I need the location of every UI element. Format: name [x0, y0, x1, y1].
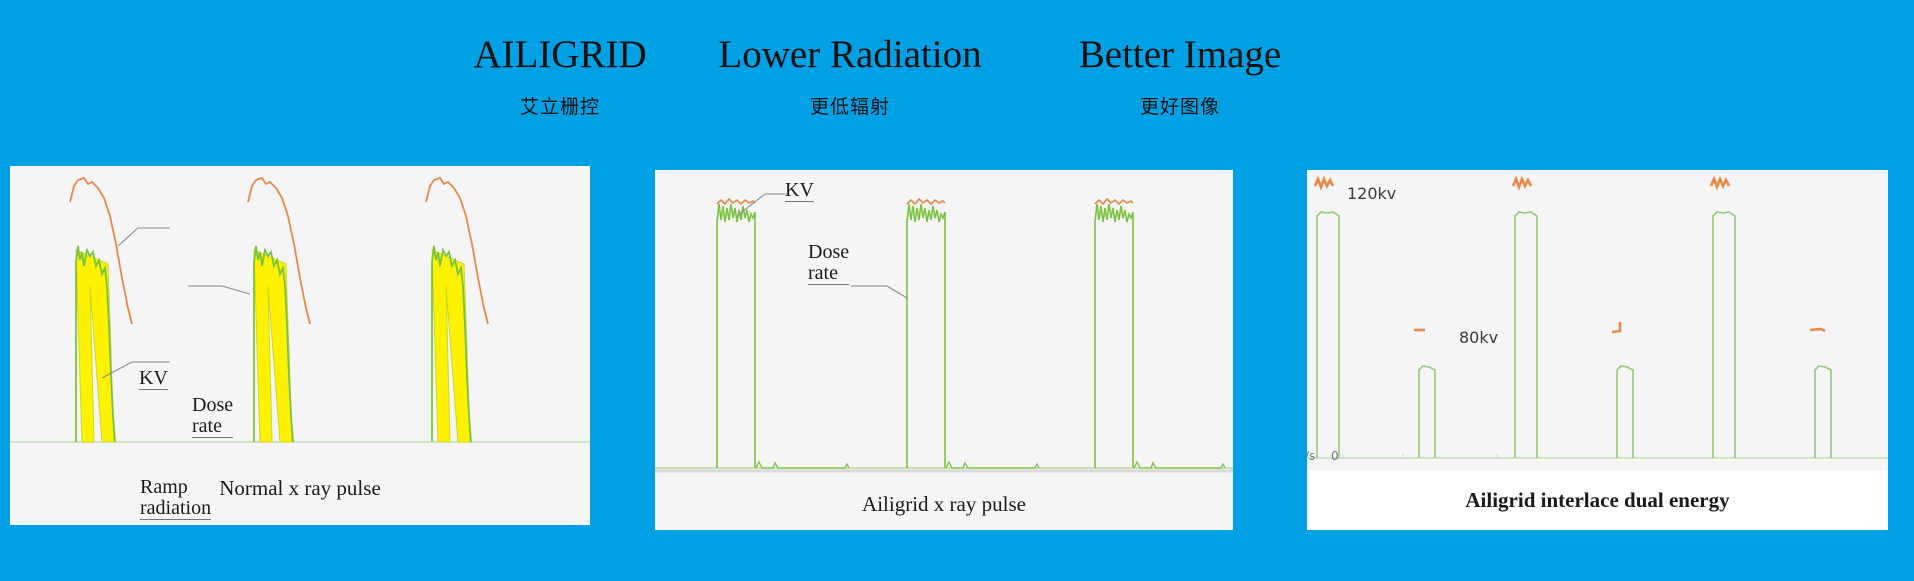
marker-80kv-3 — [1810, 329, 1825, 331]
panel-ailigrid-xray-pulse: KV Dose rate Ailigrid x ray pulse — [655, 170, 1233, 530]
panel-interlace-dual-energy: 120kv 80kv /s 0 Ailigrid interlace dual … — [1307, 170, 1888, 530]
annotation-dose-rate: Dose rate — [808, 242, 849, 285]
annotation-dose-rate: Dose rate — [192, 395, 233, 438]
header-column-better-image: Better Image 更好图像 — [1030, 35, 1330, 119]
panel-caption-dual-energy: Ailigrid interlace dual energy — [1307, 470, 1888, 530]
ramp-fill-2 — [254, 250, 292, 442]
header-title-en-2: Better Image — [1030, 35, 1330, 74]
legend-80kv-label: 80kv — [1459, 328, 1498, 347]
chart-ailigrid-xray-pulse — [655, 170, 1233, 482]
dose-rate-leader-line — [851, 286, 907, 298]
panel-normal-xray-pulse: KV Dose rate Ramp radiation Normal x ray… — [10, 166, 590, 525]
header-title-en-0: AILIGRID — [430, 35, 690, 74]
header-title-cn-0: 艾立栅控 — [430, 92, 690, 119]
legend-80kv: 80kv — [1459, 328, 1498, 347]
pulse-foot-2 — [946, 462, 1039, 468]
chart-normal-xray-pulse — [10, 166, 590, 466]
axis-unit-label: /s — [1307, 449, 1315, 463]
dose-rate-leader-line — [188, 286, 250, 294]
panel-caption-ailigrid: Ailigrid x ray pulse — [655, 492, 1233, 517]
header-title-cn-2: 更好图像 — [1030, 92, 1330, 119]
chart-interlace-dual-energy — [1307, 170, 1888, 470]
marker-120kv-2 — [1513, 179, 1531, 187]
dose-rate-pulse-3 — [1095, 204, 1133, 468]
pulse-120kv-2 — [1515, 212, 1537, 458]
pulse-80kv-2 — [1617, 366, 1633, 458]
kv-cap-2 — [907, 199, 945, 204]
header-column-lower-radiation: Lower Radiation 更低辐射 — [680, 35, 1020, 119]
marker-120kv-3 — [1711, 179, 1729, 187]
legend-120kv: 120kv — [1347, 184, 1396, 203]
axis-zero-tick: 0 — [1331, 449, 1339, 463]
header-banner: AILIGRID 艾立栅控 Lower Radiation 更低辐射 Bette… — [0, 0, 1914, 160]
pulse-80kv-3 — [1815, 366, 1831, 458]
header-title-cn-1: 更低辐射 — [680, 92, 1020, 119]
panel-caption-normal: Normal x ray pulse — [10, 476, 590, 501]
marker-80kv-2 — [1612, 322, 1620, 332]
annotation-kv: KV — [785, 180, 814, 202]
kv-cap-3 — [1095, 199, 1133, 204]
header-column-ailigrid: AILIGRID 艾立栅控 — [430, 35, 690, 119]
kv-leader-line — [118, 228, 170, 246]
dose-rate-pulse-1 — [717, 204, 755, 468]
header-title-en-1: Lower Radiation — [680, 35, 1020, 74]
chart-normal-svg — [10, 166, 590, 466]
chart-ailigrid-svg — [655, 170, 1233, 482]
pulse-foot-1 — [756, 462, 849, 468]
marker-120kv-1 — [1315, 179, 1333, 187]
chart-dual-energy-svg — [1307, 170, 1888, 470]
kv-cap-1 — [717, 199, 755, 204]
dose-rate-pulse-2 — [907, 204, 945, 468]
ramp-fill-3 — [432, 250, 470, 442]
pulse-120kv-1 — [1317, 212, 1339, 458]
annotation-kv: KV — [139, 368, 168, 390]
pulse-foot-3 — [1134, 462, 1225, 468]
ramp-fill-1 — [76, 250, 114, 442]
pulse-80kv-1 — [1419, 366, 1435, 458]
pulse-120kv-3 — [1713, 212, 1735, 458]
legend-120kv-label: 120kv — [1347, 184, 1396, 203]
